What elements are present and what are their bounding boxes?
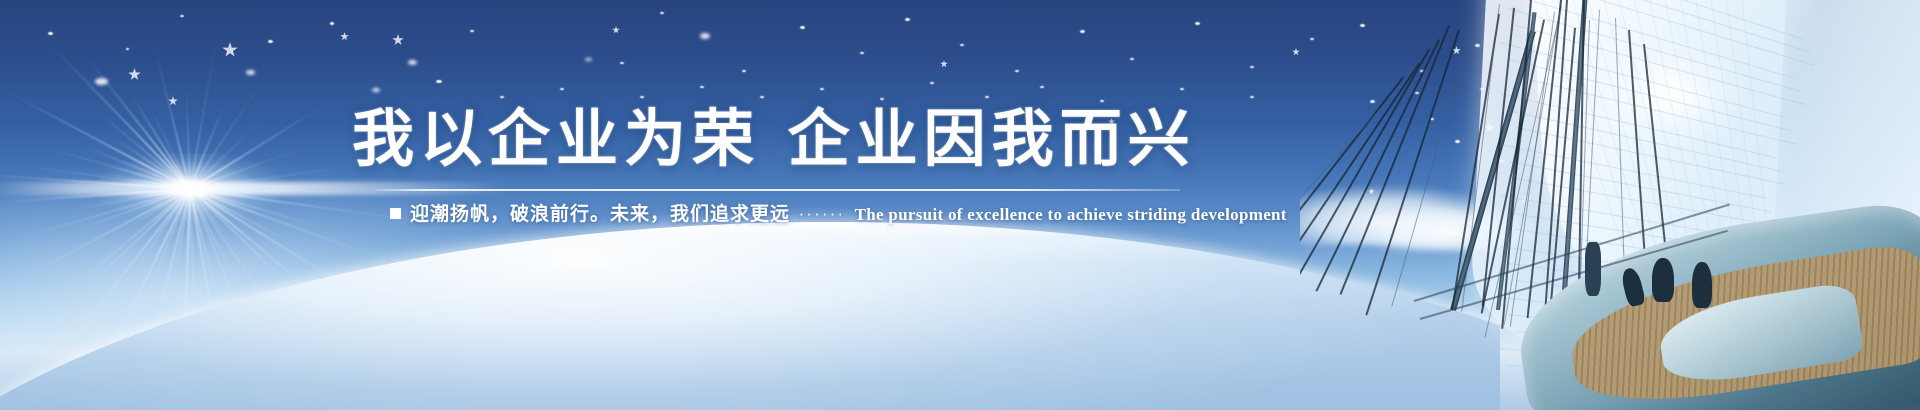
title-divider-rule bbox=[375, 189, 1180, 191]
crew-member bbox=[1652, 258, 1674, 302]
page-title: 我以企业为荣 企业因我而兴 bbox=[352, 88, 1172, 178]
subtitle-row: 迎潮扬帆，破浪前行。未来，我们追求更远 ······ The pursuit o… bbox=[390, 199, 1287, 226]
winch bbox=[1585, 242, 1601, 296]
bullet-square-icon bbox=[390, 208, 401, 219]
sailing-yacht bbox=[1300, 0, 1920, 410]
globe-sphere bbox=[0, 222, 1500, 410]
corporate-banner: 我以企业为荣 企业因我而兴 迎潮扬帆，破浪前行。未来，我们追求更远 ······… bbox=[0, 0, 1920, 410]
ellipsis-dots: ······ bbox=[799, 206, 846, 224]
subtitle-english: The pursuit of excellence to achieve str… bbox=[855, 205, 1287, 225]
subtitle-chinese: 迎潮扬帆，破浪前行。未来，我们追求更远 bbox=[410, 199, 790, 226]
crew-member bbox=[1692, 262, 1712, 308]
